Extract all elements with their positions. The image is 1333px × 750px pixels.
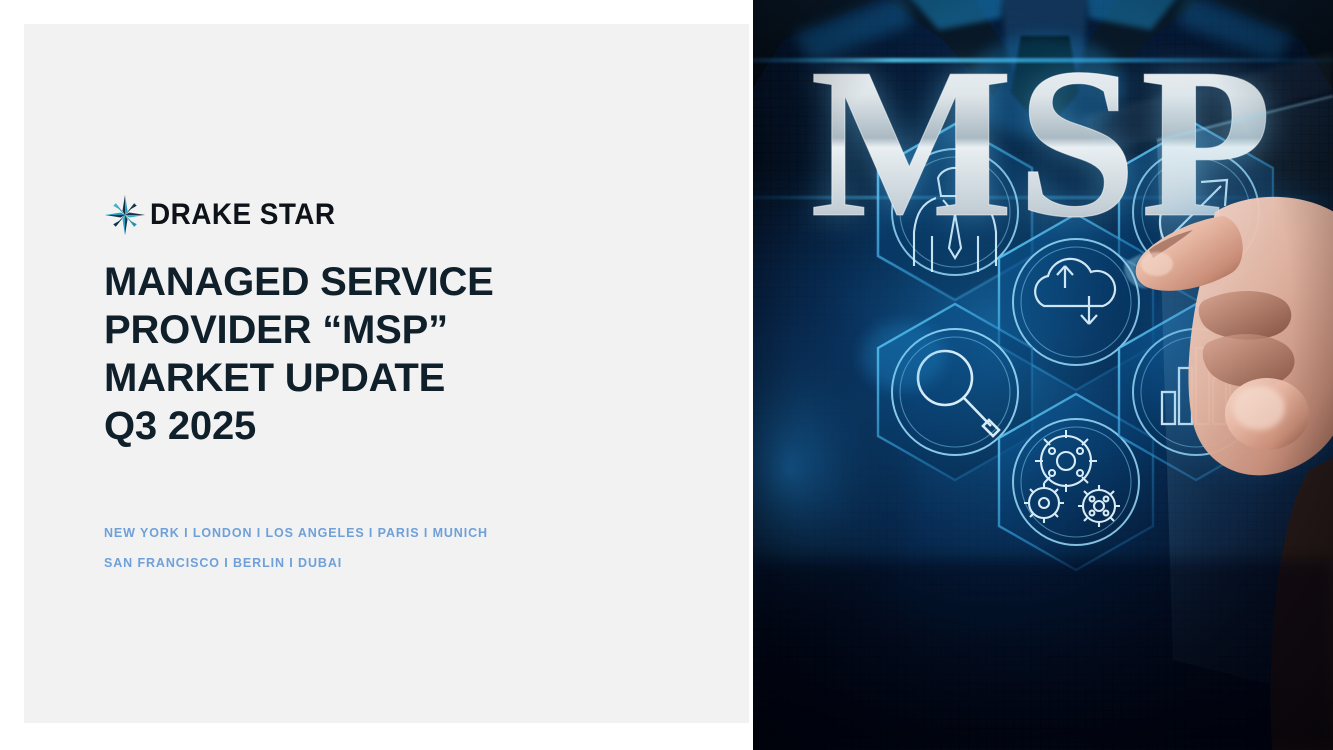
title-line-4: Q3 2025 bbox=[104, 402, 684, 450]
left-content-panel: DRAKE STAR MANAGED SERVICE PROVIDER “MSP… bbox=[24, 24, 749, 723]
cover-image: MSP MSP bbox=[753, 0, 1333, 750]
title-line-3: MARKET UPDATE bbox=[104, 354, 684, 402]
page-title: MANAGED SERVICE PROVIDER “MSP” MARKET UP… bbox=[104, 258, 684, 450]
slide-root: DRAKE STAR MANAGED SERVICE PROVIDER “MSP… bbox=[0, 0, 1333, 750]
compass-star-icon bbox=[104, 194, 146, 236]
title-line-2: PROVIDER “MSP” bbox=[104, 306, 684, 354]
left-content-stack: DRAKE STAR MANAGED SERVICE PROVIDER “MSP… bbox=[104, 194, 684, 578]
office-line-1: NEW YORK I LONDON I LOS ANGELES I PARIS … bbox=[104, 518, 684, 548]
cover-image-illustration: MSP MSP bbox=[753, 0, 1333, 750]
brand-name: DRAKE STAR bbox=[150, 200, 335, 230]
title-line-1: MANAGED SERVICE bbox=[104, 258, 684, 306]
brand-logo: DRAKE STAR bbox=[104, 194, 684, 236]
office-line-2: SAN FRANCISCO I BERLIN I DUBAI bbox=[104, 548, 684, 578]
office-locations: NEW YORK I LONDON I LOS ANGELES I PARIS … bbox=[104, 518, 684, 578]
